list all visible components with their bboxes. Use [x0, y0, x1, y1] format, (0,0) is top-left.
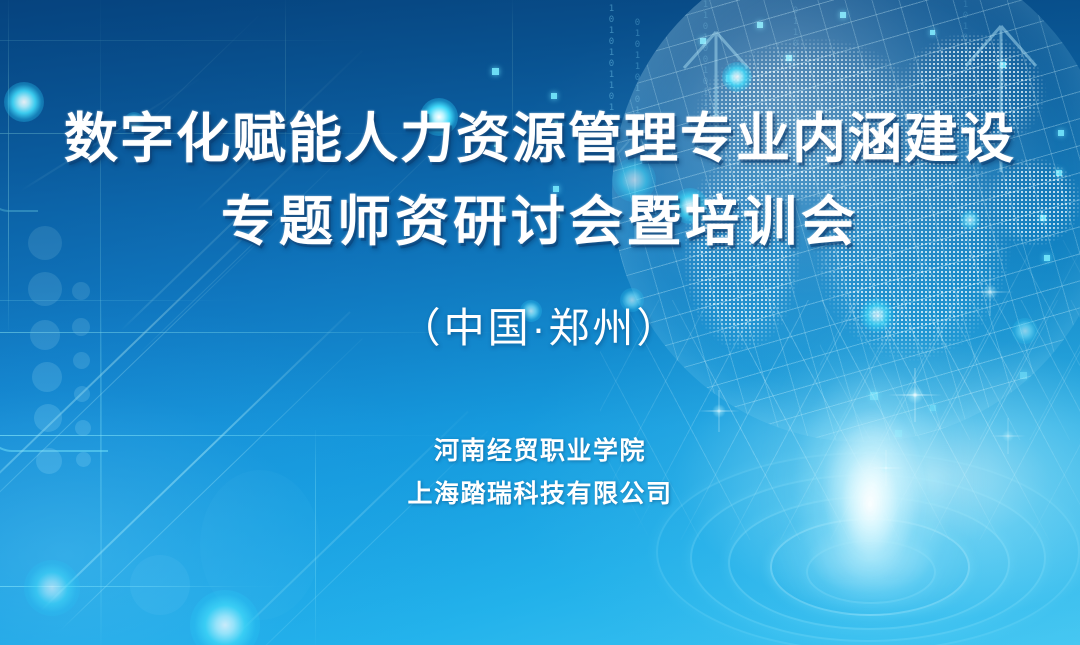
location-subtitle: （中国·郑州） [400, 294, 681, 354]
organizer-2: 上海踏瑞科技有限公司 [407, 473, 672, 516]
title-line-2: 专题师资研讨会暨培训会 [0, 195, 1080, 250]
title-block: 数字化赋能人力资源管理专业内涵建设 专题师资研讨会暨培训会 [0, 112, 1080, 250]
conference-banner: 1010101101001 0101101010110 110100101101… [0, 0, 1080, 645]
organizer-list: 河南经贸职业学院 上海踏瑞科技有限公司 [407, 430, 672, 516]
banner-content: 数字化赋能人力资源管理专业内涵建设 专题师资研讨会暨培训会 （中国·郑州） 河南… [0, 0, 1080, 645]
organizer-1: 河南经贸职业学院 [407, 430, 672, 473]
title-line-1: 数字化赋能人力资源管理专业内涵建设 [0, 112, 1080, 167]
